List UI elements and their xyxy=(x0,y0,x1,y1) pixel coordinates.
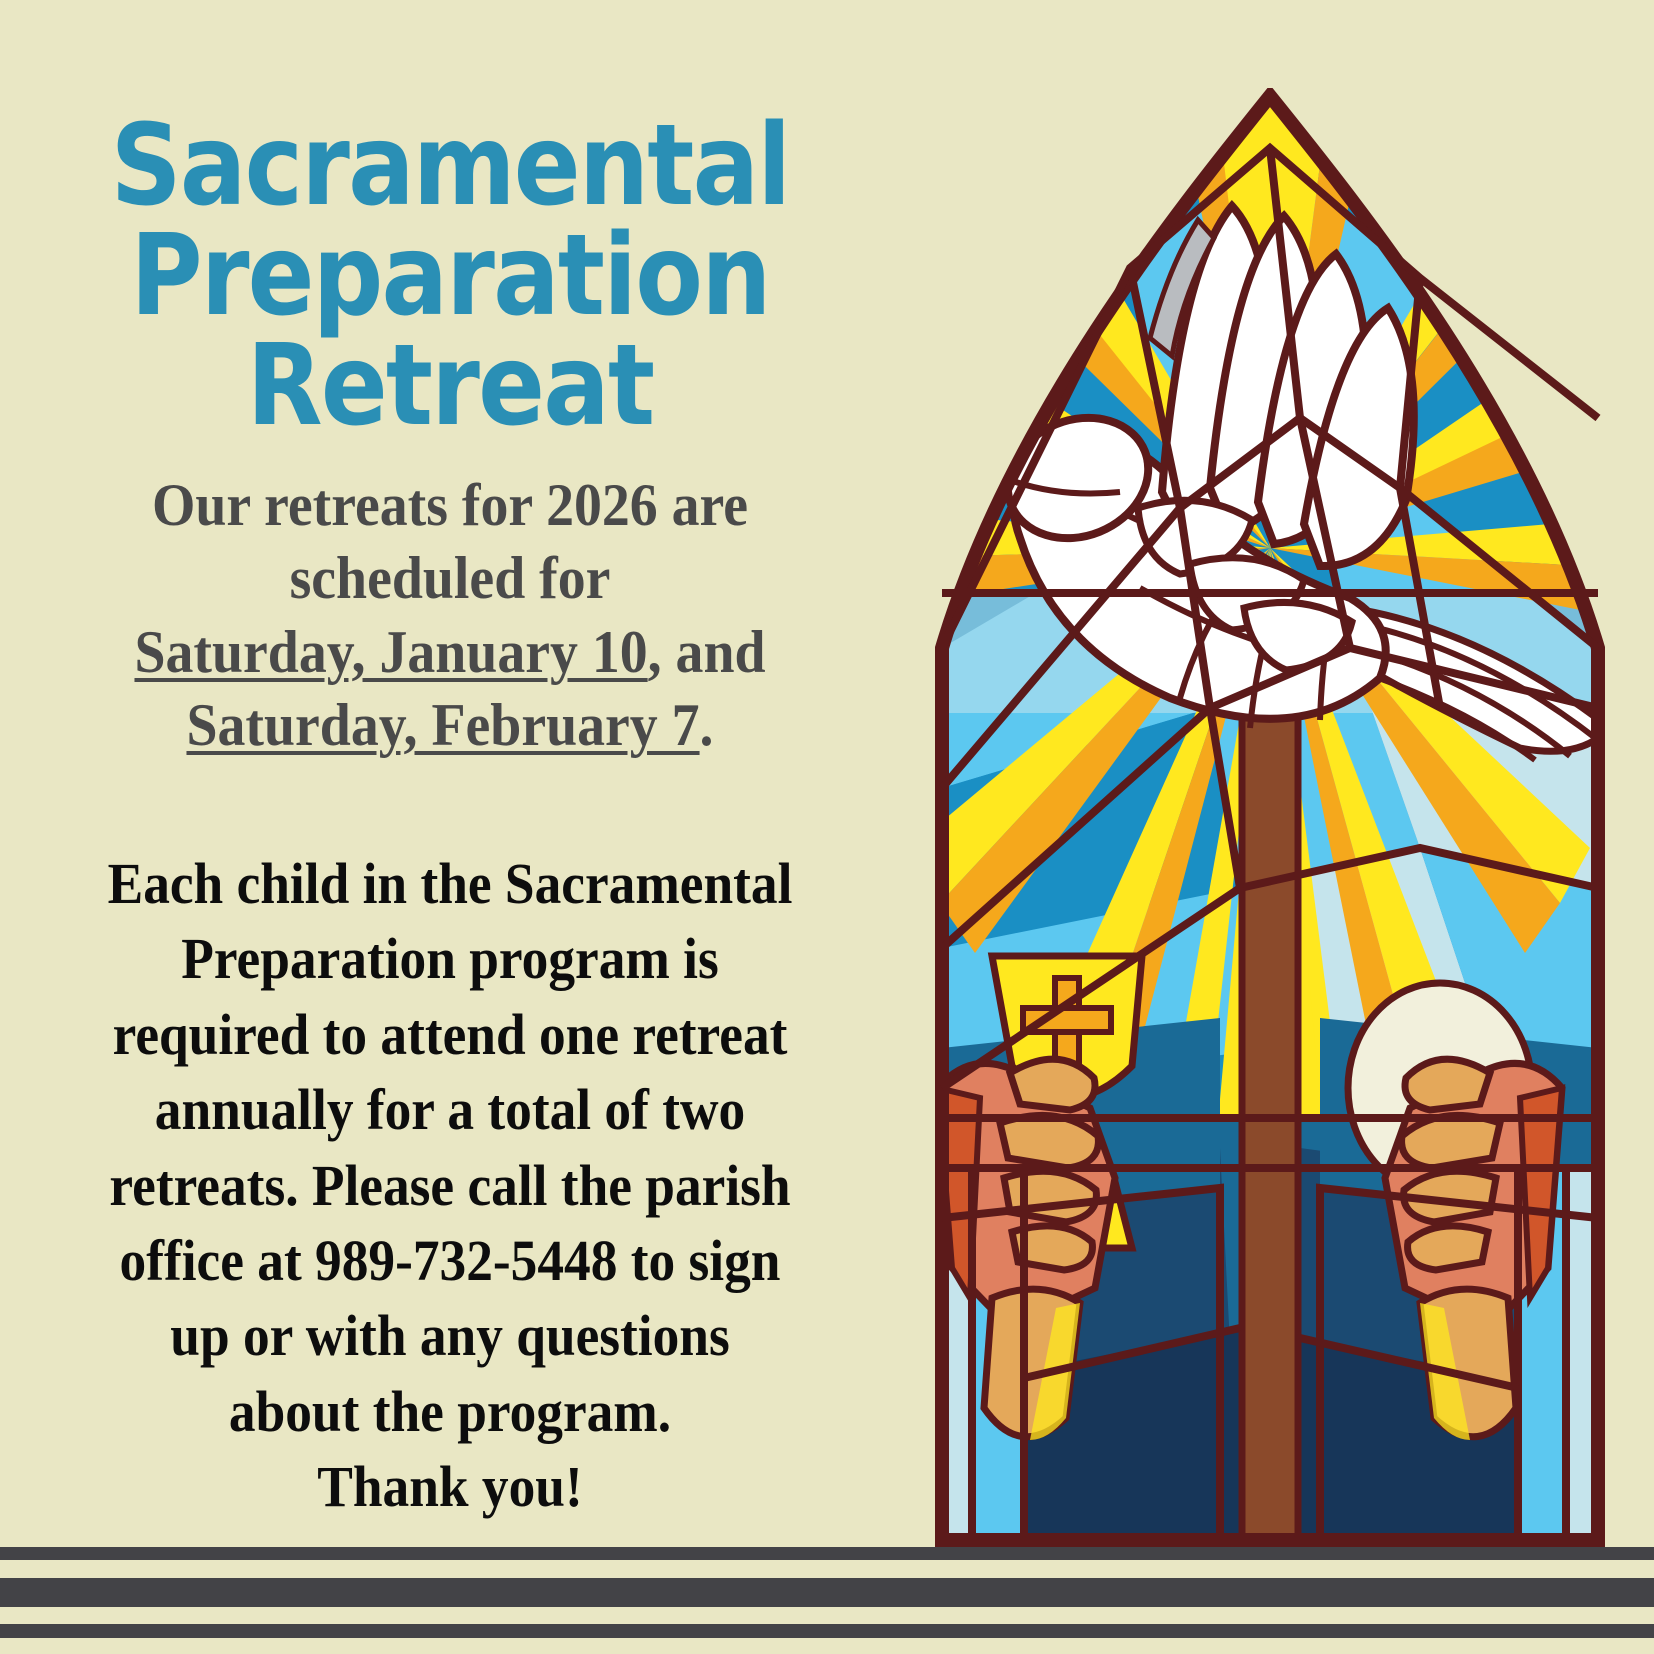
body-line-1: Each child in the Sacramental xyxy=(87,846,814,921)
footer-bar-top xyxy=(0,1547,1654,1560)
title-line-1: Sacramental xyxy=(102,112,797,222)
page-title: Sacramental Preparation Retreat xyxy=(102,0,797,441)
text-column: Sacramental Preparation Retreat Our retr… xyxy=(0,0,900,1525)
footer-bar-bottom xyxy=(0,1624,1654,1638)
schedule-block: Our retreats for 2026 are scheduled for … xyxy=(83,469,818,762)
poster-canvas: Sacramental Preparation Retreat Our retr… xyxy=(0,0,1654,1654)
cross-post xyxy=(1242,593,1298,1540)
stained-glass-svg xyxy=(880,88,1620,1550)
title-line-3: Retreat xyxy=(102,332,797,442)
body-line-5: retreats. Please call the parish xyxy=(87,1148,814,1223)
schedule-date-1-row: Saturday, January 10, and xyxy=(83,616,818,689)
body-line-6-phone: office at 989-732-5448 to sign xyxy=(87,1223,814,1298)
retreat-date-2-suffix: . xyxy=(700,692,714,758)
body-paragraph: Each child in the Sacramental Preparatio… xyxy=(87,846,814,1525)
schedule-line-1: Our retreats for 2026 are xyxy=(83,469,818,542)
schedule-date-2-row: Saturday, February 7. xyxy=(83,689,818,762)
body-line-2: Preparation program is xyxy=(87,921,814,996)
body-line-7: up or with any questions xyxy=(87,1298,814,1373)
title-line-2: Preparation xyxy=(102,222,797,332)
retreat-date-2: Saturday, February 7 xyxy=(186,692,699,758)
retreat-date-1-suffix: , and xyxy=(648,619,766,685)
schedule-line-2: scheduled for xyxy=(83,542,818,615)
stained-glass-window xyxy=(880,88,1620,1550)
glass-panels xyxy=(880,88,1620,1550)
retreat-date-1: Saturday, January 10 xyxy=(134,619,647,685)
body-line-9-thanks: Thank you! xyxy=(87,1449,814,1524)
body-line-3: required to attend one retreat xyxy=(87,997,814,1072)
body-line-8: about the program. xyxy=(87,1374,814,1449)
footer-bar-middle xyxy=(0,1578,1654,1607)
body-line-4: annually for a total of two xyxy=(87,1072,814,1147)
